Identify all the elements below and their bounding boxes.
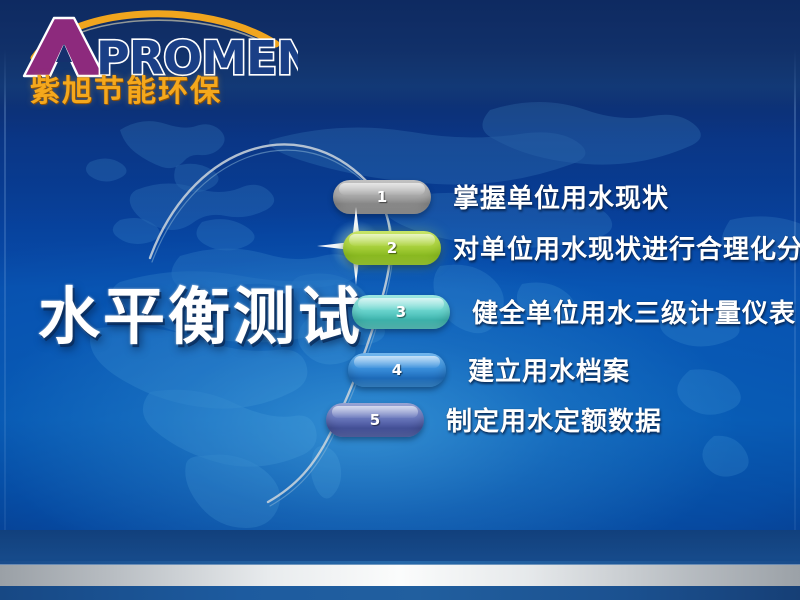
footer-blue-bar [0, 586, 800, 600]
step-badge-2[interactable]: 2 [343, 231, 441, 265]
presentation-slide: PROMEN 紫旭节能环保 水平衡测试 1 掌握单位用水现状 [0, 0, 800, 600]
step-label-3: 健全单位用水三级计量仪表 [472, 293, 796, 330]
step-number-5: 5 [370, 411, 380, 429]
step-item-4[interactable]: 4 建立用水档案 [348, 351, 630, 388]
step-label-4: 建立用水档案 [468, 351, 630, 388]
step-item-5[interactable]: 5 制定用水定额数据 [326, 401, 662, 438]
step-item-1[interactable]: 1 掌握单位用水现状 [333, 178, 669, 215]
step-label-2: 对单位用水现状进行合理化分析 [453, 229, 800, 266]
step-badge-5[interactable]: 5 [326, 403, 424, 437]
footer-silver-bar [0, 565, 800, 586]
step-number-2: 2 [387, 239, 397, 257]
step-badge-1[interactable]: 1 [333, 180, 431, 214]
step-number-4: 4 [392, 361, 402, 379]
step-label-5: 制定用水定额数据 [446, 401, 662, 438]
step-item-3[interactable]: 3 健全单位用水三级计量仪表 [352, 293, 796, 330]
step-label-1: 掌握单位用水现状 [453, 178, 669, 215]
steps-list: 1 掌握单位用水现状 [0, 0, 800, 600]
step-item-2[interactable]: 2 对单位用水现状进行合理化分析 [343, 229, 800, 266]
step-number-1: 1 [377, 188, 387, 206]
step-badge-3[interactable]: 3 [352, 295, 450, 329]
step-badge-4[interactable]: 4 [348, 353, 446, 387]
step-number-3: 3 [396, 303, 406, 321]
